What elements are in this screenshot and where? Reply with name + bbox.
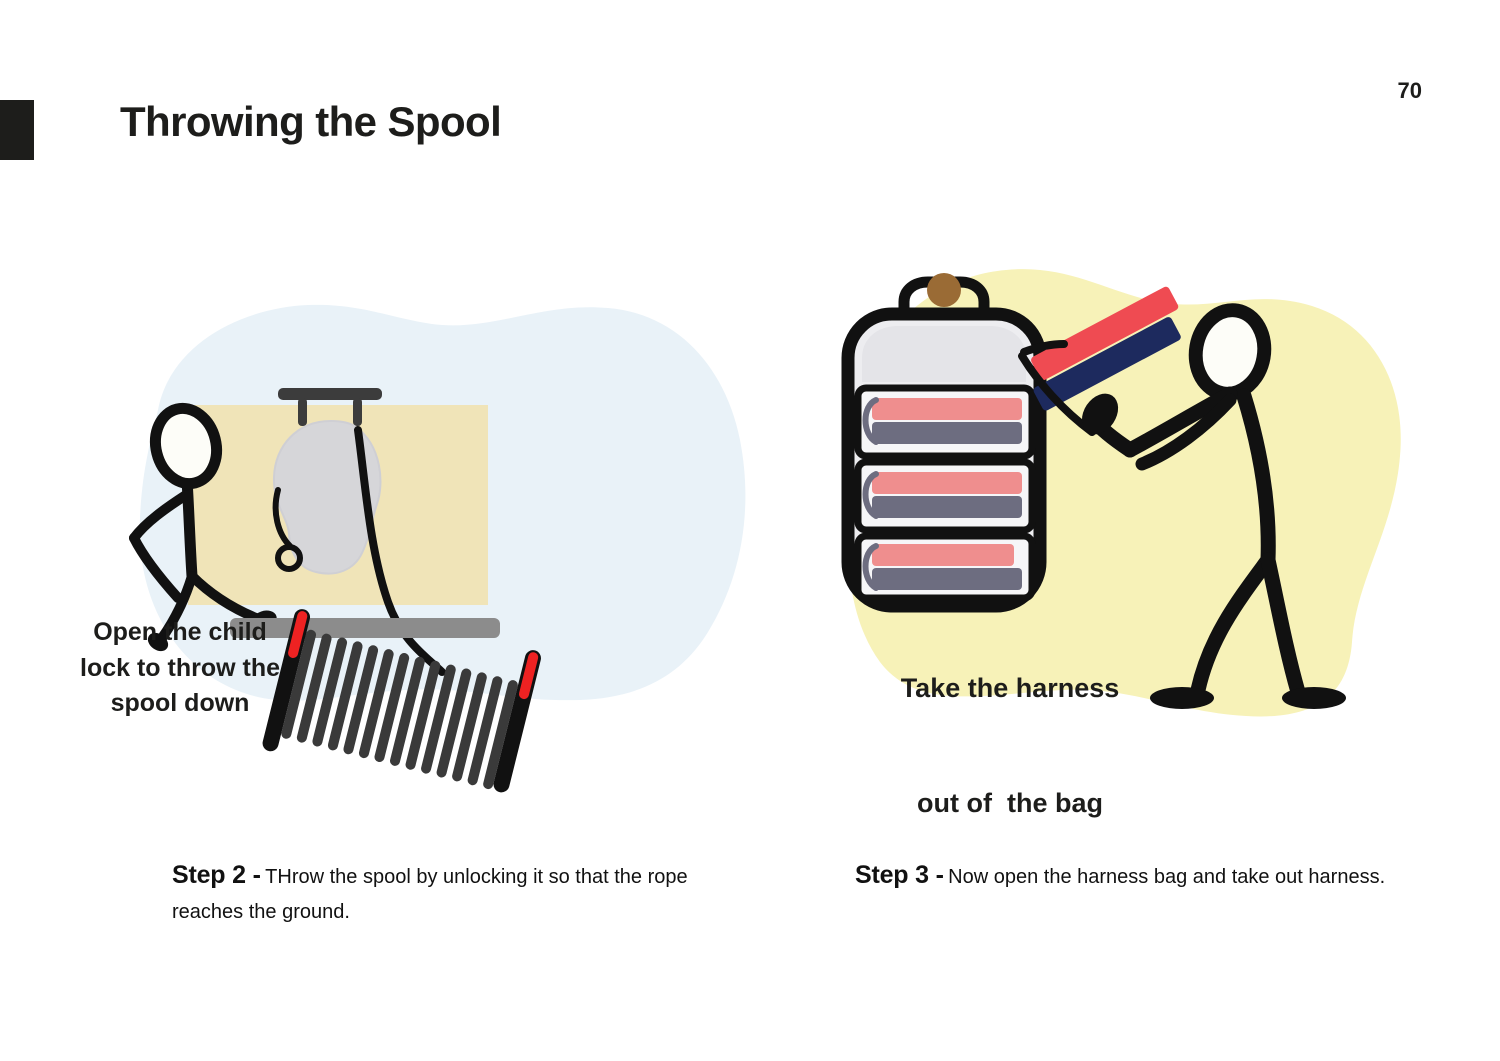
illustration-child-lock-spool — [40, 250, 780, 810]
strap-pink-2 — [872, 472, 1022, 494]
figure-foot-back — [1282, 687, 1346, 709]
lock-rail-right-post — [353, 398, 362, 426]
caption-left-line-1: Open the child — [20, 615, 340, 651]
panel-step-2 — [40, 250, 780, 810]
bag-compartment-1 — [858, 388, 1032, 456]
bag-compartment-2 — [858, 462, 1032, 530]
step-2-text: Step 2 - THrow the spool by unlocking it… — [172, 855, 712, 929]
page-accent-bar — [0, 100, 34, 160]
strap-grey-2 — [872, 496, 1022, 518]
caption-step-3: Take the harness out of the bag — [845, 592, 1175, 860]
step-3-text: Step 3 - Now open the harness bag and ta… — [855, 855, 1435, 896]
strap-pink-3 — [872, 544, 1014, 566]
caption-left-line-2: lock to throw the — [20, 651, 340, 687]
step-3-body: Now open the harness bag and take out ha… — [948, 866, 1385, 888]
strap-pink-1 — [872, 398, 1022, 420]
caption-right-line-1: Take the harness — [845, 669, 1175, 707]
strap-grey-3 — [872, 568, 1022, 590]
caption-right-line-2: out of the bag — [845, 784, 1175, 822]
figure-head — [1189, 305, 1271, 400]
caption-left-line-3: spool down — [20, 686, 340, 722]
bag-handle-knob — [927, 273, 961, 307]
strap-grey-1 — [872, 422, 1022, 444]
caption-step-2: Open the child lock to throw the spool d… — [20, 615, 340, 722]
bag-compartment-3 — [858, 536, 1032, 598]
lock-rail-horizontal — [278, 388, 382, 400]
page-title: Throwing the Spool — [120, 98, 501, 146]
lock-rail-left-post — [298, 398, 307, 426]
page-number: 70 — [1398, 78, 1422, 104]
step-3-label: Step 3 - — [855, 861, 944, 889]
bag-top-section — [862, 326, 1026, 382]
step-2-label: Step 2 - — [172, 861, 261, 889]
